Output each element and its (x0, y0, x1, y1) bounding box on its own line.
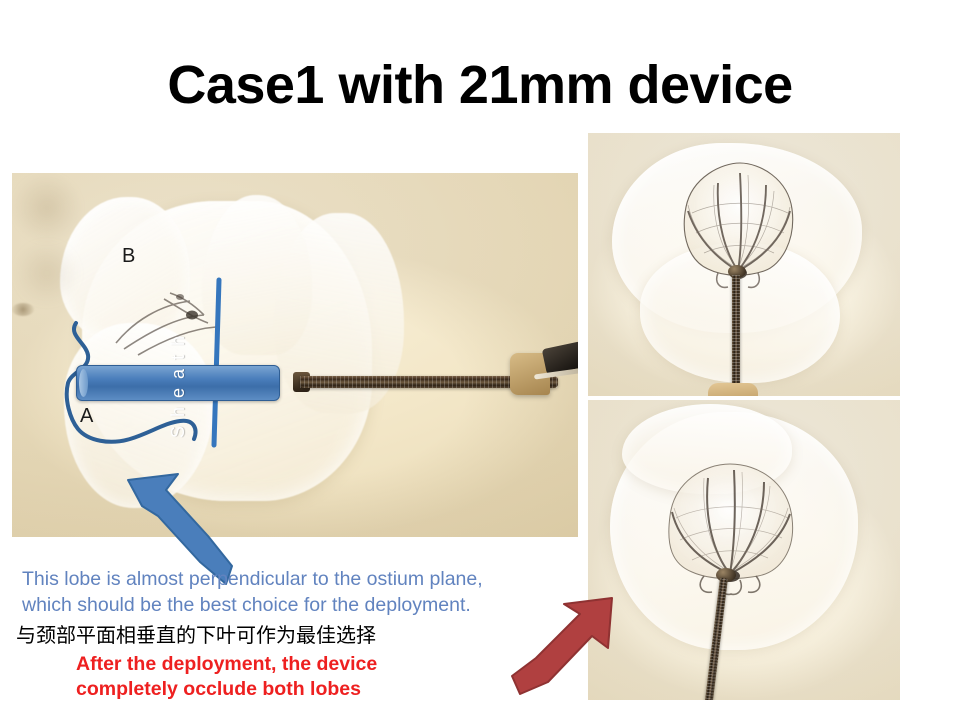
shaft-striations (732, 275, 740, 393)
caption-red-line2: completely occlude both lobes (76, 677, 496, 702)
delivery-shaft (732, 275, 740, 393)
sheath-bar-end-cap (79, 369, 88, 397)
sheath-label: Sheath (168, 327, 189, 438)
deployed-device-photo-top[interactable] (588, 133, 900, 396)
laa-model-side-hole (12, 303, 34, 316)
page-title: Case1 with 21mm device (0, 56, 960, 115)
caption-red-line1: After the deployment, the device (76, 652, 496, 677)
sheath-callout-bar[interactable]: Sheath (76, 365, 280, 401)
main-specimen-photo[interactable]: B A Sheath (12, 173, 578, 537)
caption-blue-line2: which should be the best choice for the … (22, 592, 582, 618)
photo-shadow-middle (12, 173, 82, 243)
label-b: B (122, 245, 135, 268)
caption-blue-text: This lobe is almost perpendicular to the… (22, 566, 582, 618)
caption-chinese-line1: 与颈部平面相垂直的下叶可作为最佳选择 (16, 623, 516, 647)
deployed-device-photo-bottom[interactable] (588, 400, 900, 700)
caption-blue-line1: This lobe is almost perpendicular to the… (22, 566, 582, 592)
caption-red-text: After the deployment, the device complet… (76, 652, 496, 702)
slide-canvas: Case1 with 21mm device (0, 0, 960, 720)
caption-chinese-text: 与颈部平面相垂直的下叶可作为最佳选择 (16, 623, 516, 647)
photo-shadow-right (12, 243, 82, 303)
label-a: A (80, 405, 93, 428)
handle-grip (708, 383, 758, 396)
